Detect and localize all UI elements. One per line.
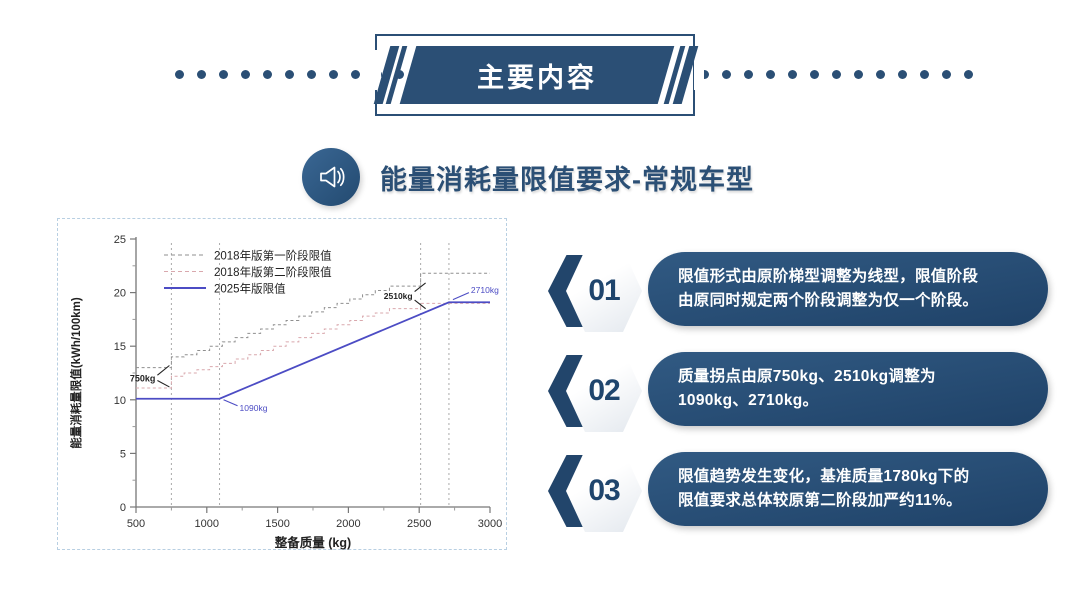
- section-title: 能量消耗量限值要求-常规车型: [380, 158, 754, 197]
- banner-dot: [175, 70, 184, 79]
- svg-text:1000: 1000: [195, 518, 219, 530]
- chart-panel: 051015202550010001500200025003000整备质量 (k…: [57, 218, 507, 550]
- card-pill[interactable]: 质量拐点由原750kg、2510kg调整为1090kg、2710kg。: [648, 352, 1048, 426]
- svg-text:5: 5: [120, 448, 126, 460]
- banner-title: 主要内容: [408, 46, 666, 104]
- card-text: 质量拐点由原750kg、2510kg调整为1090kg、2710kg。: [678, 365, 936, 413]
- svg-text:2510kg: 2510kg: [384, 291, 413, 301]
- annotation-arrow-750-lower: [157, 381, 169, 387]
- card-number: 01: [588, 274, 619, 308]
- svg-text:1500: 1500: [265, 518, 289, 530]
- key-points-list: 01限值形式由原阶梯型调整为线型，限值阶段由原同时规定两个阶段调整为仅一个阶段。…: [548, 250, 1048, 550]
- banner-dot: [722, 70, 731, 79]
- banner-dot: [285, 70, 294, 79]
- svg-text:500: 500: [127, 518, 145, 530]
- banner-dot: [307, 70, 316, 79]
- card-text: 限值形式由原阶梯型调整为线型，限值阶段由原同时规定两个阶段调整为仅一个阶段。: [678, 265, 978, 313]
- svg-text:整备质量 (kg): 整备质量 (kg): [275, 535, 351, 550]
- annotation-arrow-2510-lower: [415, 300, 426, 309]
- card-text-line1: 限值趋势发生变化，基准质量1780kg下的: [678, 468, 969, 485]
- banner-dot: [876, 70, 885, 79]
- card-number: 02: [588, 374, 619, 408]
- svg-text:能量消耗量限值(kWh/100km): 能量消耗量限值(kWh/100km): [69, 297, 83, 449]
- svg-text:1090kg: 1090kg: [240, 403, 268, 413]
- section-header: 能量消耗量限值要求-常规车型: [302, 148, 754, 206]
- card-text-line2: 限值要求总体较原第二阶段加严约11%。: [678, 492, 962, 509]
- card-number: 03: [588, 474, 619, 508]
- energy-consumption-limit-chart: 051015202550010001500200025003000整备质量 (k…: [58, 219, 508, 551]
- svg-text:2500: 2500: [407, 518, 431, 530]
- megaphone-icon: [302, 148, 360, 206]
- banner-dot: [766, 70, 775, 79]
- banner-dot: [241, 70, 250, 79]
- banner-dots-right: [700, 70, 973, 79]
- legend-label-1: 2018年版第二阶段限值: [214, 265, 332, 279]
- key-point-card[interactable]: 01限值形式由原阶梯型调整为线型，限值阶段由原同时规定两个阶段调整为仅一个阶段。: [548, 250, 1048, 328]
- card-text-line1: 质量拐点由原750kg、2510kg调整为: [678, 368, 936, 385]
- svg-text:3000: 3000: [478, 518, 502, 530]
- legend-label-2: 2025年版限值: [214, 282, 286, 296]
- series-line-2: [136, 302, 490, 398]
- svg-text:10: 10: [114, 395, 126, 407]
- banner-dot: [964, 70, 973, 79]
- svg-text:25: 25: [114, 234, 126, 246]
- banner-dot: [197, 70, 206, 79]
- banner-dot: [920, 70, 929, 79]
- key-point-card[interactable]: 02质量拐点由原750kg、2510kg调整为1090kg、2710kg。: [548, 350, 1048, 428]
- banner-dot: [329, 70, 338, 79]
- hexagon-badge: 02: [548, 350, 644, 432]
- card-pill[interactable]: 限值形式由原阶梯型调整为线型，限值阶段由原同时规定两个阶段调整为仅一个阶段。: [648, 252, 1048, 326]
- svg-text:2710kg: 2710kg: [471, 285, 499, 295]
- banner-dot: [854, 70, 863, 79]
- card-text: 限值趋势发生变化，基准质量1780kg下的限值要求总体较原第二阶段加严约11%。: [678, 465, 969, 513]
- banner-dot: [788, 70, 797, 79]
- svg-text:2000: 2000: [336, 518, 360, 530]
- banner-dot: [832, 70, 841, 79]
- banner-dot: [810, 70, 819, 79]
- card-text-line2: 1090kg、2710kg。: [678, 392, 818, 409]
- card-text-line2: 由原同时规定两个阶段调整为仅一个阶段。: [678, 292, 978, 309]
- annotation-arrow-1090: [224, 400, 238, 406]
- banner-frame-notch-right: [694, 50, 704, 90]
- svg-text:0: 0: [120, 502, 126, 514]
- series-line-1: [136, 303, 490, 388]
- annotation-arrow-750-upper: [157, 365, 169, 375]
- banner-dot: [351, 70, 360, 79]
- card-pill[interactable]: 限值趋势发生变化，基准质量1780kg下的限值要求总体较原第二阶段加严约11%。: [648, 452, 1048, 526]
- legend-label-0: 2018年版第一阶段限值: [214, 249, 332, 263]
- svg-text:750kg: 750kg: [130, 373, 156, 383]
- banner-dot: [263, 70, 272, 79]
- hexagon-badge: 01: [548, 250, 644, 332]
- page-banner: 主要内容: [0, 28, 1080, 120]
- annotation-arrow-2710: [453, 293, 469, 300]
- card-text-line1: 限值形式由原阶梯型调整为线型，限值阶段: [678, 268, 978, 285]
- svg-text:20: 20: [114, 288, 126, 300]
- hexagon-badge: 03: [548, 450, 644, 532]
- banner-dot: [219, 70, 228, 79]
- svg-text:15: 15: [114, 341, 126, 353]
- banner-dot: [744, 70, 753, 79]
- banner-dot: [898, 70, 907, 79]
- key-point-card[interactable]: 03限值趋势发生变化，基准质量1780kg下的限值要求总体较原第二阶段加严约11…: [548, 450, 1048, 528]
- banner-dot: [942, 70, 951, 79]
